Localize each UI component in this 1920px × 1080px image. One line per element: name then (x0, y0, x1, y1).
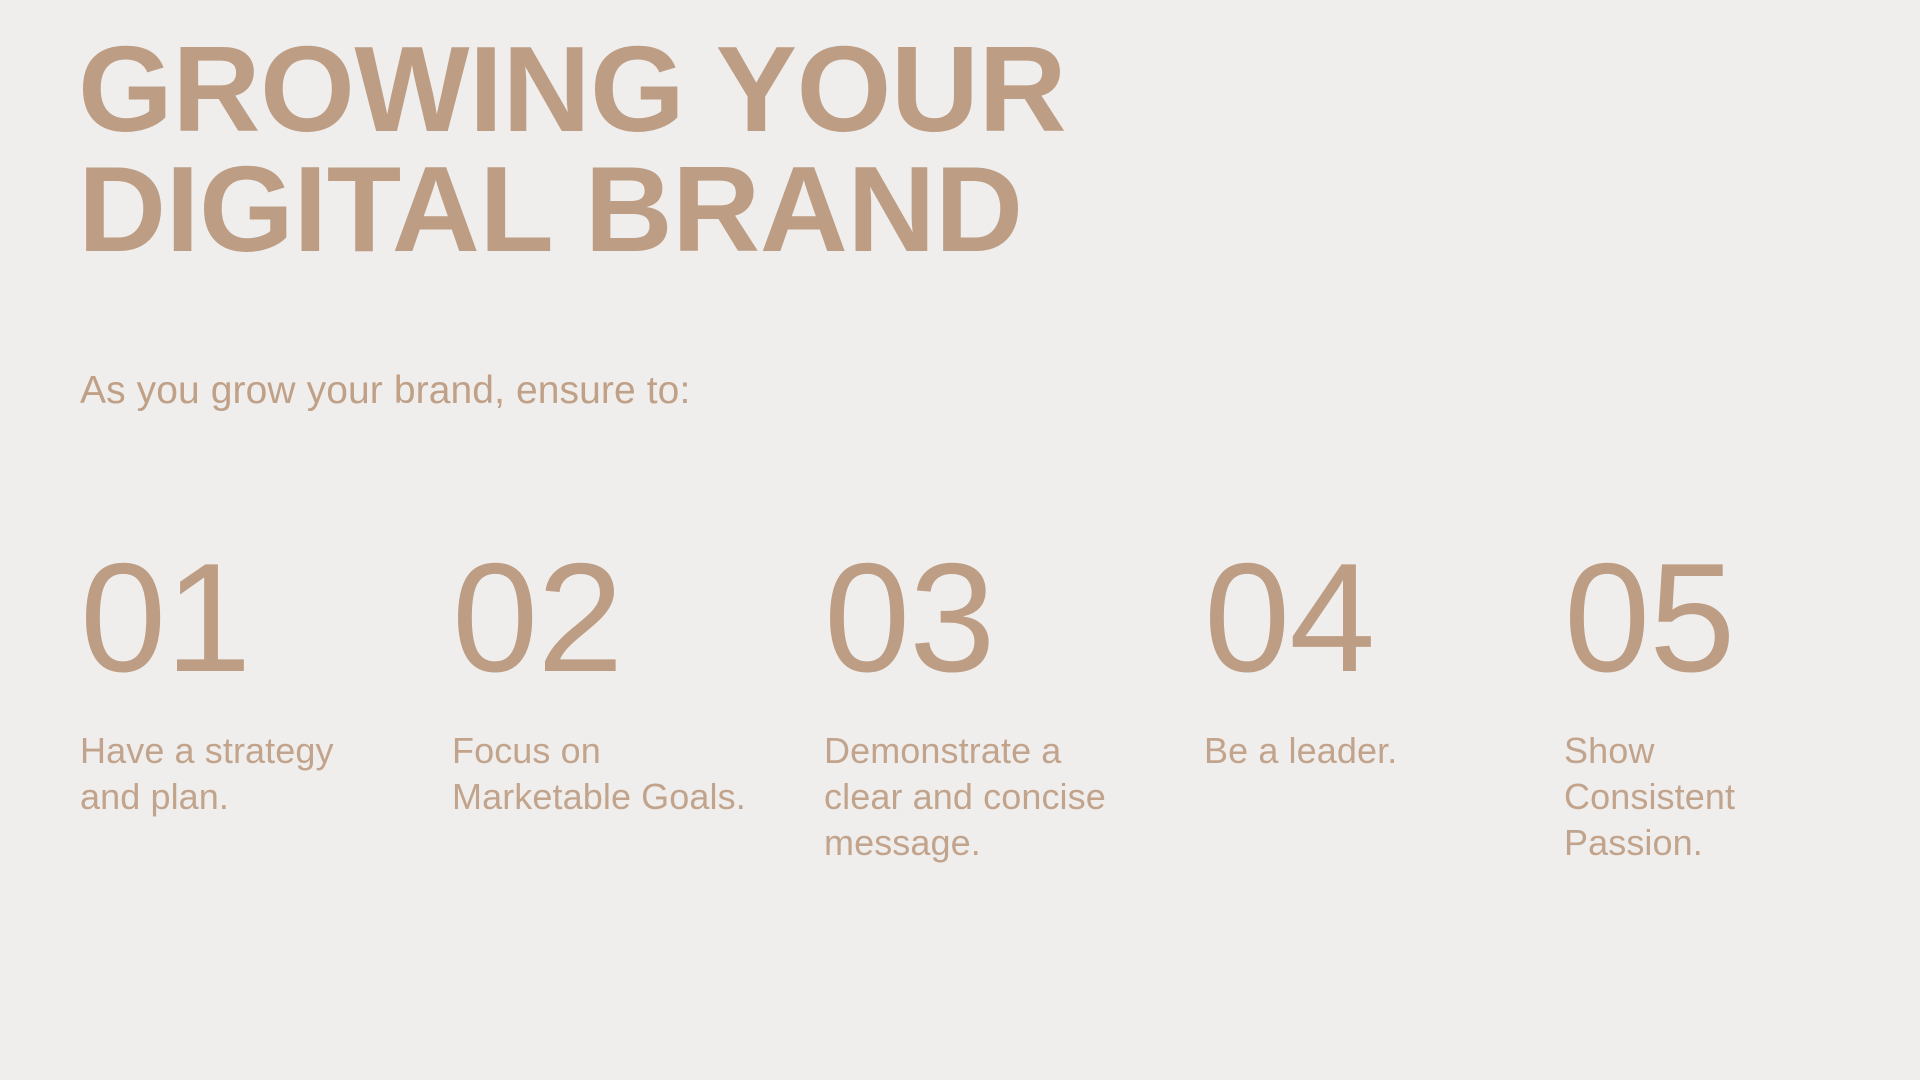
step-item-02: 02 Focus on Marketable Goals. (452, 540, 824, 820)
step-number-04: 04 (1204, 540, 1542, 692)
step-text-01: Have a strategy and plan. (80, 728, 390, 820)
subtitle: As you grow your brand, ensure to: (80, 368, 690, 415)
step-number-02: 02 (452, 540, 802, 692)
step-number-05: 05 (1564, 540, 1838, 692)
step-text-02: Focus on Marketable Goals. (452, 728, 762, 820)
step-item-01: 01 Have a strategy and plan. (80, 540, 452, 820)
page-title-line-2: DIGITAL BRAND (78, 150, 1478, 270)
slide-canvas: GROWING YOUR DIGITAL BRAND As you grow y… (0, 0, 1920, 1080)
step-item-03: 03 Demonstrate a clear and concise messa… (824, 540, 1204, 866)
page-title-line-1: GROWING YOUR (78, 30, 1478, 150)
step-number-03: 03 (824, 540, 1182, 692)
steps-row: 01 Have a strategy and plan. 02 Focus on… (80, 540, 1860, 866)
step-text-03: Demonstrate a clear and concise message. (824, 728, 1144, 866)
title-block: GROWING YOUR DIGITAL BRAND (78, 30, 1478, 269)
step-item-04: 04 Be a leader. (1204, 540, 1564, 774)
step-text-04: Be a leader. (1204, 728, 1534, 774)
step-item-05: 05 Show Consistent Passion. (1564, 540, 1860, 866)
step-number-01: 01 (80, 540, 430, 692)
step-text-05: Show Consistent Passion. (1564, 728, 1834, 866)
